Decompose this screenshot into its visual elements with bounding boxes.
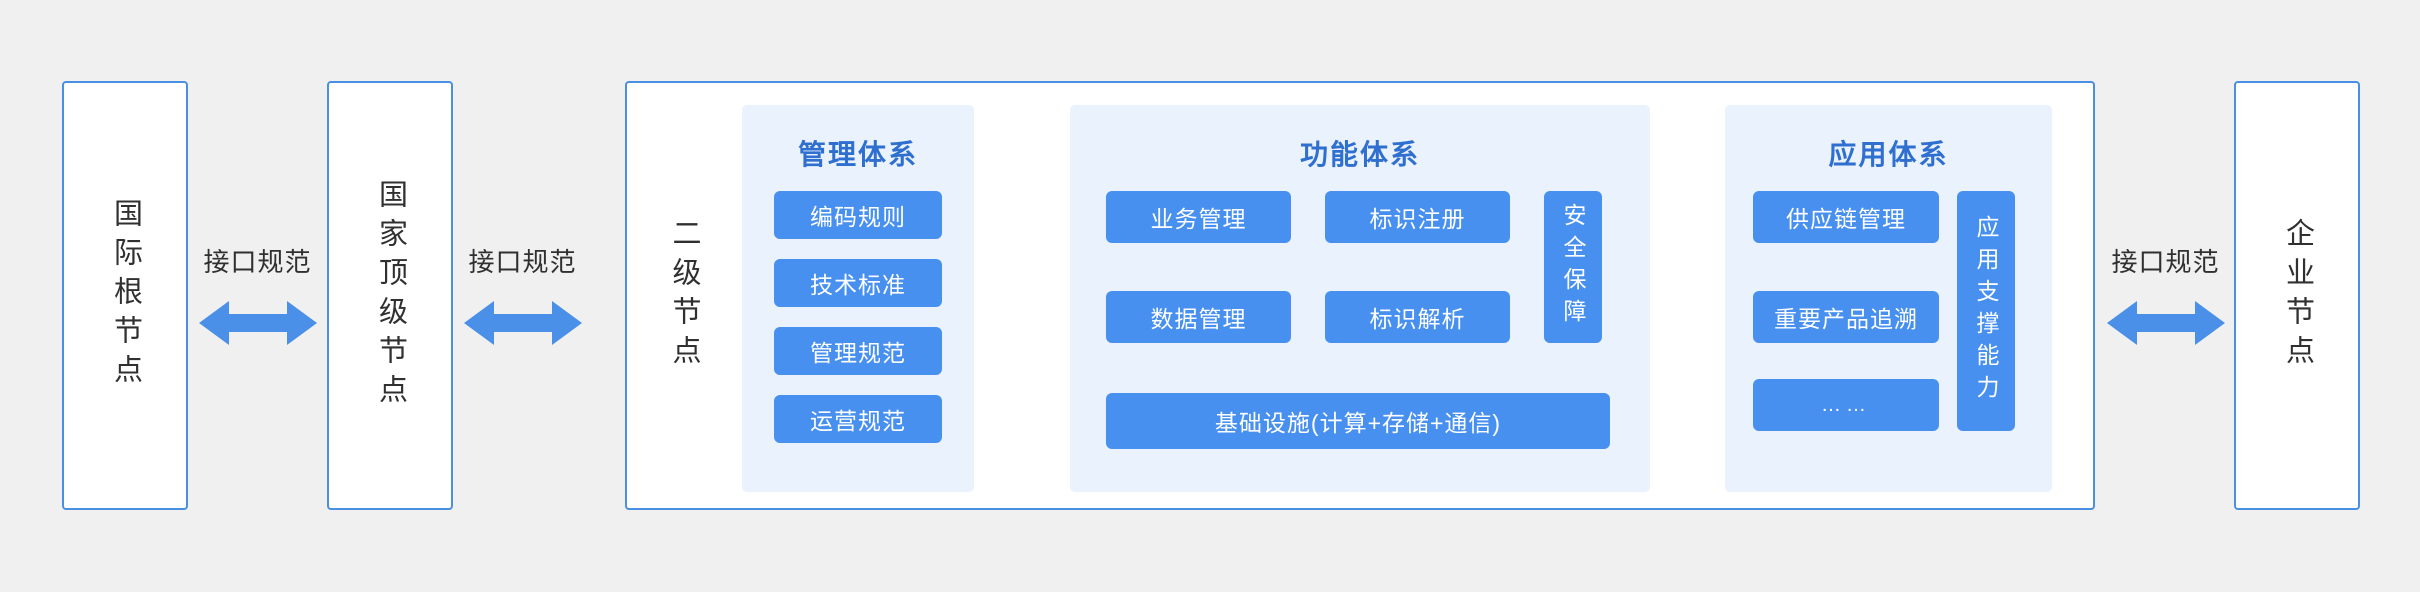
chip-management-norms[interactable]: 管理规范 <box>774 327 942 375</box>
panel-application-title: 应用体系 <box>1725 133 2052 173</box>
chip-technical-standards[interactable]: 技术标准 <box>774 259 942 307</box>
chip-identifier-resolution[interactable]: 标识解析 <box>1325 291 1510 343</box>
connector-right-label: 接口规范 <box>2111 242 2219 279</box>
secondary-node-label: 二级节点 <box>669 218 698 374</box>
chip-data-management[interactable]: 数据管理 <box>1106 291 1291 343</box>
chip-infrastructure[interactable]: 基础设施(计算+存储+通信) <box>1106 393 1610 449</box>
secondary-node-container: 二级节点 管理体系 编码规则 技术标准 管理规范 运营规范 功能体系 业务管理 … <box>625 81 2095 510</box>
chip-more-ellipsis[interactable]: …… <box>1753 379 1939 431</box>
node-enterprise[interactable]: 企业节点 <box>2234 81 2360 510</box>
connector-left-label: 接口规范 <box>203 242 311 279</box>
node-national-top[interactable]: 国家顶级节点 <box>327 81 453 510</box>
chip-business-management[interactable]: 业务管理 <box>1106 191 1291 243</box>
connector-middle-label: 接口规范 <box>468 242 576 279</box>
panel-application-system: 应用体系 供应链管理 重要产品追溯 …… 应用支撑能力 <box>1725 105 2052 492</box>
connector-middle: 接口规范 <box>455 230 590 360</box>
node-international-root-label: 国际根节点 <box>111 198 140 393</box>
node-enterprise-label: 企业节点 <box>2283 218 2312 374</box>
double-arrow-icon <box>199 297 317 349</box>
node-international-root[interactable]: 国际根节点 <box>62 81 188 510</box>
connector-left: 接口规范 <box>190 230 325 360</box>
chip-important-product-traceability[interactable]: 重要产品追溯 <box>1753 291 1939 343</box>
panel-management-system: 管理体系 编码规则 技术标准 管理规范 运营规范 <box>742 105 974 492</box>
panel-function-title: 功能体系 <box>1070 133 1650 173</box>
chip-security-assurance[interactable]: 安全保障 <box>1544 191 1602 343</box>
connector-right: 接口规范 <box>2098 230 2233 360</box>
chip-operation-norms[interactable]: 运营规范 <box>774 395 942 443</box>
panel-function-system: 功能体系 业务管理 标识注册 数据管理 标识解析 安全保障 基础设施(计算+存储… <box>1070 105 1650 492</box>
chip-supply-chain-management[interactable]: 供应链管理 <box>1753 191 1939 243</box>
panel-management-title: 管理体系 <box>742 133 974 173</box>
chip-coding-rules[interactable]: 编码规则 <box>774 191 942 239</box>
secondary-node-label-wrap: 二级节点 <box>669 83 698 508</box>
double-arrow-icon <box>2107 297 2225 349</box>
chip-application-support-capability[interactable]: 应用支撑能力 <box>1957 191 2015 431</box>
double-arrow-icon <box>464 297 582 349</box>
node-national-top-label: 国家顶级节点 <box>376 179 405 413</box>
diagram-canvas: 国际根节点 接口规范 国家顶级节点 接口规范 二级节点 管理体系 编码规则 技术… <box>0 0 2420 592</box>
chip-identifier-registration[interactable]: 标识注册 <box>1325 191 1510 243</box>
